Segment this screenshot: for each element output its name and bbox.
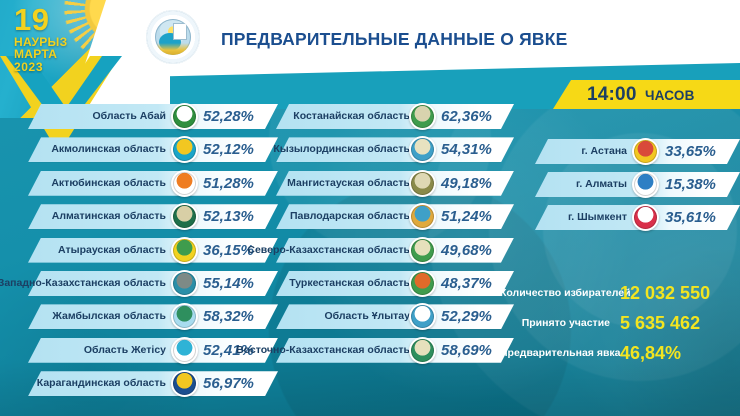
time-value: 14:00 (587, 84, 637, 106)
region-name: Западно-Казахстанская область (0, 271, 166, 296)
emblem-graphic (173, 372, 196, 395)
emblem-graphic (173, 305, 196, 328)
region-name: Жамбылская область (52, 304, 166, 329)
almaty-city-emblem-icon (632, 171, 659, 198)
almaty-oblast-emblem-icon (171, 203, 198, 230)
region-name: Алматинская область (52, 204, 166, 229)
date-day: 19 (14, 4, 49, 35)
region-name: Актюбинская область (51, 171, 166, 196)
region-row: Туркестанская область48,37% (276, 271, 514, 296)
emblem-graphic (411, 172, 434, 195)
region-row: г. Алматы15,38% (535, 172, 740, 197)
emblem-graphic (634, 206, 657, 229)
atyrau-emblem-icon (171, 237, 198, 264)
north-kazakhstan-emblem-icon (409, 237, 436, 264)
region-name: г. Астана (581, 139, 627, 164)
turnout-percent: 52,29% (441, 304, 492, 329)
mangystau-emblem-icon (409, 170, 436, 197)
emblem-graphic (173, 205, 196, 228)
emblem-graphic (173, 172, 196, 195)
region-name: Область Абай (93, 104, 166, 129)
cec-emblem-icon (146, 10, 200, 64)
turnout-percent: 51,24% (441, 204, 492, 229)
region-name: Павлодарская область (290, 204, 410, 229)
date-month-ru: МАРТА (14, 47, 57, 61)
turnout-percent: 62,36% (441, 104, 492, 129)
region-name: Костанайская область (293, 104, 410, 129)
emblem-core (155, 19, 191, 55)
emblem-wheat (157, 43, 189, 55)
turnout-percent: 52,13% (203, 204, 254, 229)
region-name: г. Алматы (576, 172, 627, 197)
region-row: Атырауская область36,15% (28, 238, 278, 263)
region-row: Жамбылская область58,32% (28, 304, 278, 329)
region-row: Восточно-Казахстанская область58,69% (276, 338, 514, 363)
region-row: Область Абай52,28% (28, 104, 278, 129)
region-row: Северо-Казахстанская область49,68% (276, 238, 514, 263)
turnout-percent: 36,15% (203, 238, 254, 263)
turnout-percent: 33,65% (665, 139, 716, 164)
astana-emblem-icon (632, 138, 659, 165)
emblem-ballot (174, 24, 186, 39)
turkestan-emblem-icon (409, 270, 436, 297)
region-row: Акмолинская область52,12% (28, 137, 278, 162)
region-row: г. Астана33,65% (535, 139, 740, 164)
turnout-percent: 49,68% (441, 238, 492, 263)
emblem-graphic (411, 339, 434, 362)
region-name: г. Шымкент (568, 205, 627, 230)
region-row: Актюбинская область51,28% (28, 171, 278, 196)
emblem-graphic (173, 239, 196, 262)
region-name: Область Ұлытау (324, 304, 410, 329)
region-row: Алматинская область52,13% (28, 204, 278, 229)
region-name: Область Жетісу (84, 338, 166, 363)
turnout-percent: 35,61% (665, 205, 716, 230)
emblem-graphic (173, 339, 196, 362)
region-name: Мангистауская область (287, 171, 410, 196)
summary-label: Предварительная явка (500, 347, 610, 359)
region-row: Карагандинская область56,97% (28, 371, 278, 396)
emblem-graphic (411, 239, 434, 262)
aktobe-emblem-icon (171, 170, 198, 197)
turnout-percent: 52,12% (203, 137, 254, 162)
time-label: ЧАСОВ (645, 88, 695, 103)
karaganda-emblem-icon (171, 370, 198, 397)
turnout-percent: 15,38% (665, 172, 716, 197)
emblem-graphic (173, 272, 196, 295)
turnout-percent: 58,32% (203, 304, 254, 329)
page-title: ПРЕДВАРИТЕЛЬНЫЕ ДАННЫЕ О ЯВКЕ (221, 29, 567, 50)
turnout-percent: 54,31% (441, 137, 492, 162)
region-row: Мангистауская область49,18% (276, 171, 514, 196)
turnout-percent: 52,28% (203, 104, 254, 129)
turnout-percent: 48,37% (441, 271, 492, 296)
turnout-percent: 49,18% (441, 171, 492, 196)
region-row: Область Ұлытау52,29% (276, 304, 514, 329)
region-name: Туркестанская область (289, 271, 410, 296)
region-name: Атырауская область (58, 238, 166, 263)
abai-emblem-icon (171, 103, 198, 130)
emblem-graphic (634, 140, 657, 163)
region-name: Восточно-Казахстанская область (236, 338, 410, 363)
emblem-graphic (411, 272, 434, 295)
east-kazakhstan-emblem-icon (409, 337, 436, 364)
turnout-percent: 55,14% (203, 271, 254, 296)
emblem-graphic (411, 205, 434, 228)
emblem-graphic (411, 305, 434, 328)
summary-label: Принято участие (500, 317, 610, 329)
west-kazakhstan-emblem-icon (171, 270, 198, 297)
region-row: Костанайская область62,36% (276, 104, 514, 129)
infographic-canvas: 19 НАУРЫЗ МАРТА 2023 ПРЕДВАРИТЕЛЬНЫЕ ДАН… (0, 0, 740, 416)
emblem-graphic (411, 138, 434, 161)
shymkent-emblem-icon (632, 204, 659, 231)
summary-value: 5 635 462 (620, 313, 700, 334)
region-row: Западно-Казахстанская область55,14% (28, 271, 278, 296)
region-name: Карагандинская область (37, 371, 166, 396)
pavlodar-emblem-icon (409, 203, 436, 230)
region-name: Акмолинская область (51, 137, 166, 162)
emblem-graphic (173, 138, 196, 161)
region-row: Кызылординская область54,31% (276, 137, 514, 162)
zhetysu-emblem-icon (171, 337, 198, 364)
summary-label: Количество избирателей (500, 287, 610, 299)
turnout-percent: 56,97% (203, 371, 254, 396)
region-name: Северо-Казахстанская область (247, 238, 410, 263)
region-row: г. Шымкент35,61% (535, 205, 740, 230)
summary-value: 12 032 550 (620, 283, 710, 304)
kostanay-emblem-icon (409, 103, 436, 130)
region-row: Павлодарская область51,24% (276, 204, 514, 229)
turnout-percent: 58,69% (441, 338, 492, 363)
turnout-percent: 51,28% (203, 171, 254, 196)
region-name: Кызылординская область (273, 137, 410, 162)
emblem-graphic (634, 173, 657, 196)
summary-value: 46,84% (620, 343, 681, 364)
emblem-graphic (411, 105, 434, 128)
date-year: 2023 (14, 60, 43, 74)
emblem-graphic (173, 105, 196, 128)
